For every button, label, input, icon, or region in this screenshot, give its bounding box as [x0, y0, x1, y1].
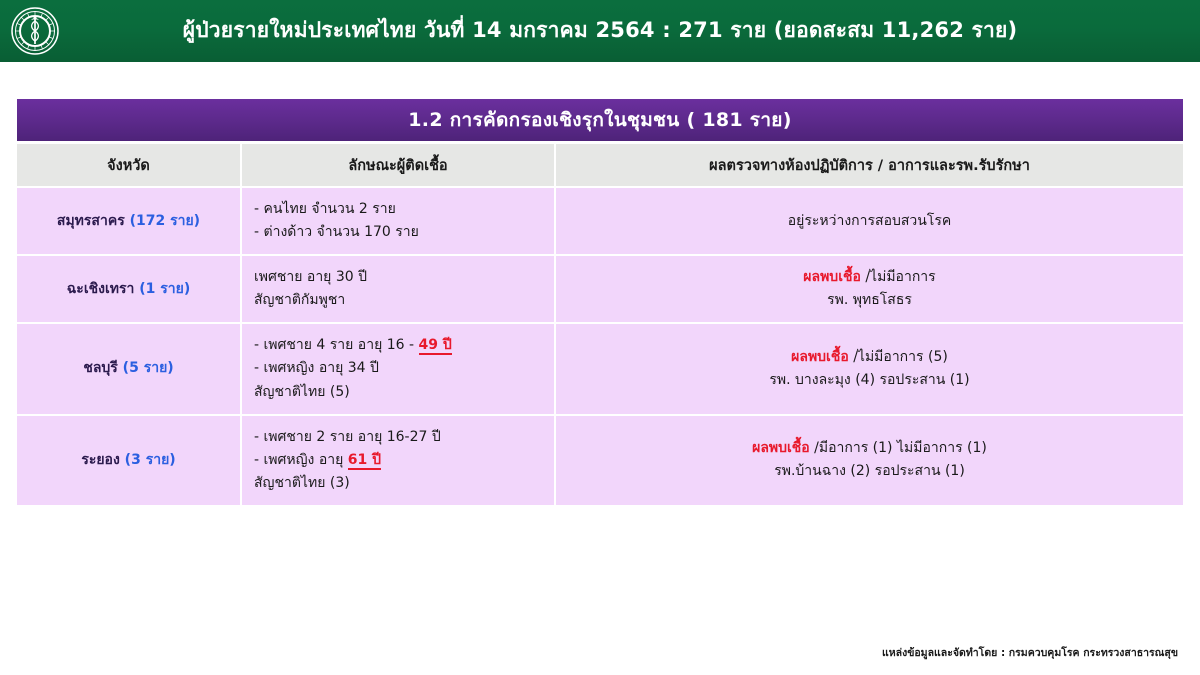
province-case-count: (1 ราย) [134, 281, 190, 297]
section-title: 1.2 การคัดกรองเชิงรุกในชุมชน ( 181 ราย) [408, 105, 791, 135]
result-positive-label: ผลพบเชื้อ [803, 269, 861, 285]
cell-lab-results: ผลพบเชื้อ /มีอาการ (1) ไม่มีอาการ (1)รพ.… [556, 416, 1183, 505]
cell-infected-traits: เพศชาย อายุ 30 ปีสัญชาติกัมพูชา [242, 256, 556, 324]
traits-line: เพศชาย อายุ 30 ปี [254, 266, 542, 289]
traits-line: - เพศหญิง อายุ 34 ปี [254, 357, 542, 380]
province-name: ระยอง [81, 452, 120, 468]
province-case-count: (172 ราย) [125, 213, 200, 229]
highlighted-age: 49 ปี [419, 337, 452, 355]
cell-province: ระยอง (3 ราย) [17, 416, 242, 505]
province-case-count: (5 ราย) [118, 360, 174, 376]
traits-line: - คนไทย จำนวน 2 ราย [254, 198, 542, 221]
highlighted-age: 61 ปี [348, 452, 381, 470]
traits-line-text: - ต่างด้าว จำนวน 170 ราย [254, 224, 419, 240]
case-breakdown-table: จังหวัด ลักษณะผู้ติดเชื้อ ผลตรวจทางห้องป… [17, 144, 1183, 505]
cell-province: ชลบุรี (5 ราย) [17, 324, 242, 415]
page-title: ผู้ป่วยรายใหม่ประเทศไทย วันที่ 14 มกราคม… [60, 19, 1200, 42]
traits-line: สัญชาติกัมพูชา [254, 289, 542, 312]
cell-infected-traits: - คนไทย จำนวน 2 ราย- ต่างด้าว จำนวน 170 … [242, 188, 556, 256]
traits-line-text: - เพศหญิง อายุ [254, 452, 348, 468]
column-header-results: ผลตรวจทางห้องปฏิบัติการ / อาการและรพ.รับ… [556, 144, 1183, 188]
moph-emblem-icon [10, 6, 60, 56]
result-positive-label: ผลพบเชื้อ [752, 440, 810, 456]
result-positive-label: ผลพบเชื้อ [791, 349, 849, 365]
result-hospital-line: อยู่ระหว่างการสอบสวนโรค [568, 210, 1171, 233]
province-name: ชลบุรี [83, 360, 118, 376]
traits-line: สัญชาติไทย (3) [254, 472, 542, 495]
cell-province: สมุทรสาคร (172 ราย) [17, 188, 242, 256]
table-row: สมุทรสาคร (172 ราย)- คนไทย จำนวน 2 ราย- … [17, 188, 1183, 256]
province-name: ฉะเชิงเทรา [67, 281, 135, 297]
traits-line: - เพศชาย 2 ราย อายุ 16-27 ปี [254, 426, 542, 449]
cell-lab-results: ผลพบเชื้อ /ไม่มีอาการ (5)รพ. บางละมุง (4… [556, 324, 1183, 415]
result-hospital-line: รพ. พุทธโสธร [568, 289, 1171, 312]
traits-line: - ต่างด้าว จำนวน 170 ราย [254, 221, 542, 244]
table-row: ชลบุรี (5 ราย)- เพศชาย 4 ราย อายุ 16 - 4… [17, 324, 1183, 415]
column-header-traits: ลักษณะผู้ติดเชื้อ [242, 144, 556, 188]
cell-lab-results: อยู่ระหว่างการสอบสวนโรค [556, 188, 1183, 256]
cell-province: ฉะเชิงเทรา (1 ราย) [17, 256, 242, 324]
province-case-count: (3 ราย) [120, 452, 176, 468]
table-body: สมุทรสาคร (172 ราย)- คนไทย จำนวน 2 ราย- … [17, 188, 1183, 505]
result-status-line: ผลพบเชื้อ /ไม่มีอาการ (5) [568, 346, 1171, 369]
result-symptom-label: /ไม่มีอาการ (5) [849, 349, 948, 365]
traits-line-text: เพศชาย อายุ 30 ปี [254, 269, 367, 285]
cell-infected-traits: - เพศชาย 4 ราย อายุ 16 - 49 ปี- เพศหญิง … [242, 324, 556, 415]
cell-lab-results: ผลพบเชื้อ /ไม่มีอาการรพ. พุทธโสธร [556, 256, 1183, 324]
table-row: ฉะเชิงเทรา (1 ราย)เพศชาย อายุ 30 ปีสัญชา… [17, 256, 1183, 324]
page-header: ผู้ป่วยรายใหม่ประเทศไทย วันที่ 14 มกราคม… [0, 0, 1200, 62]
result-symptom-label: /มีอาการ (1) ไม่มีอาการ (1) [810, 440, 987, 456]
traits-line-text: - เพศชาย 2 ราย อายุ 16-27 ปี [254, 429, 441, 445]
traits-line-text: สัญชาติไทย (5) [254, 384, 350, 400]
result-status-line: ผลพบเชื้อ /มีอาการ (1) ไม่มีอาการ (1) [568, 437, 1171, 460]
result-hospital-line: รพ. บางละมุง (4) รอประสาน (1) [568, 369, 1171, 392]
traits-line-text: - เพศหญิง อายุ 34 ปี [254, 360, 379, 376]
table-header-row: จังหวัด ลักษณะผู้ติดเชื้อ ผลตรวจทางห้องป… [17, 144, 1183, 188]
traits-line: สัญชาติไทย (5) [254, 381, 542, 404]
traits-line: - เพศชาย 4 ราย อายุ 16 - 49 ปี [254, 334, 542, 357]
column-header-province: จังหวัด [17, 144, 242, 188]
source-credit: แหล่งข้อมูลและจัดทำโดย : กรมควบคุมโรค กร… [882, 644, 1178, 661]
table-row: ระยอง (3 ราย)- เพศชาย 2 ราย อายุ 16-27 ป… [17, 416, 1183, 505]
traits-line-text: - คนไทย จำนวน 2 ราย [254, 201, 396, 217]
province-name: สมุทรสาคร [57, 213, 125, 229]
traits-line-text: สัญชาติไทย (3) [254, 475, 350, 491]
traits-line-text: - เพศชาย 4 ราย อายุ 16 - [254, 337, 419, 353]
result-hospital-line: รพ.บ้านฉาง (2) รอประสาน (1) [568, 460, 1171, 483]
section-title-bar: 1.2 การคัดกรองเชิงรุกในชุมชน ( 181 ราย) [17, 99, 1183, 141]
traits-line-text: สัญชาติกัมพูชา [254, 292, 345, 308]
traits-line: - เพศหญิง อายุ 61 ปี [254, 449, 542, 472]
result-symptom-label: /ไม่มีอาการ [861, 269, 936, 285]
result-status-line: ผลพบเชื้อ /ไม่มีอาการ [568, 266, 1171, 289]
cell-infected-traits: - เพศชาย 2 ราย อายุ 16-27 ปี- เพศหญิง อา… [242, 416, 556, 505]
